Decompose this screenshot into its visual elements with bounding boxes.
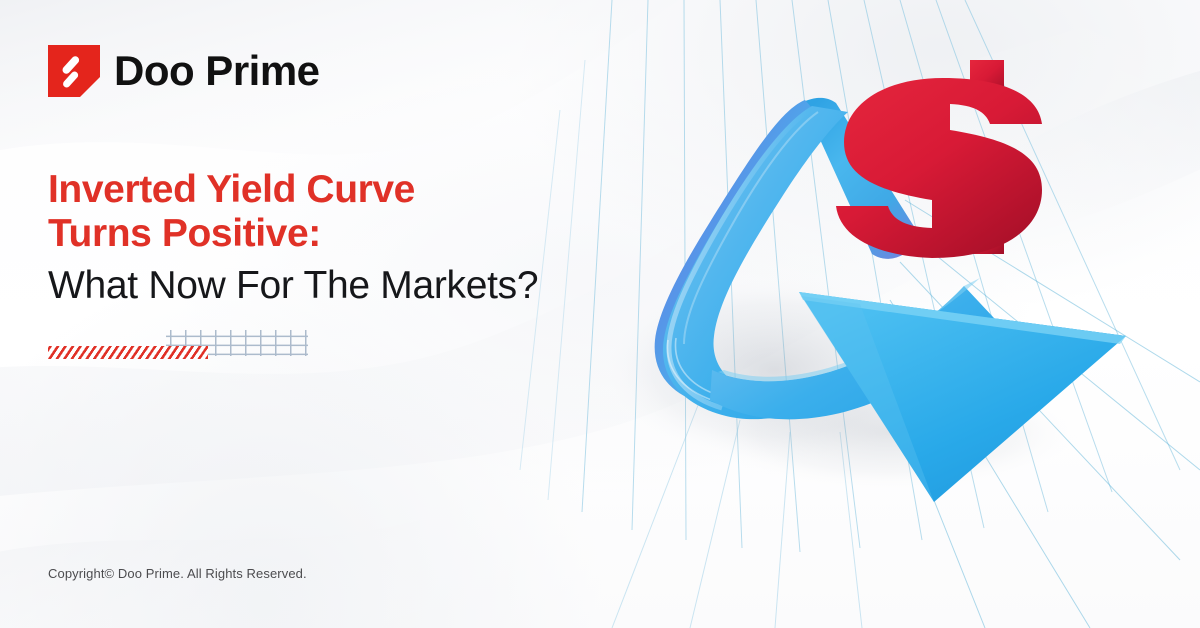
hero-artwork xyxy=(560,40,1200,540)
dollar-sign-glyph xyxy=(836,60,1042,258)
doo-prime-pen-square-icon xyxy=(48,45,100,97)
brand-logo[interactable]: Doo Prime xyxy=(48,45,320,97)
banner-canvas: Doo Prime Inverted Yield Curve Turns Pos… xyxy=(0,0,1200,628)
decorative-divider xyxy=(48,330,308,364)
brand-wordmark: Doo Prime xyxy=(114,50,320,92)
copyright-text: Copyright© Doo Prime. All Rights Reserve… xyxy=(48,566,307,581)
red-diagonal-hatch-bar xyxy=(48,346,208,359)
